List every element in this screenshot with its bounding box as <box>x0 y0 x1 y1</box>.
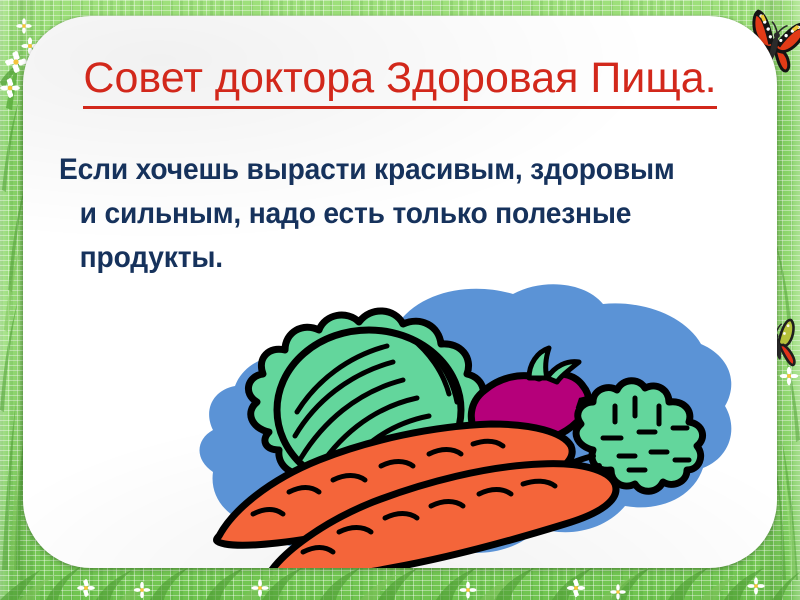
body-paragraph: Если хочешь вырасти красивым, здоровым и… <box>59 148 708 280</box>
body-line-1: Если хочешь вырасти красивым, здоровым <box>59 148 708 192</box>
grass-icon <box>774 140 800 580</box>
body-line-2: и сильным, надо есть только полезные <box>59 192 708 236</box>
body-line-3: продукты. <box>59 236 708 280</box>
content-card: Совет доктора Здоровая Пища. Если хочешь… <box>23 16 777 568</box>
page-title-text: Совет доктора Здоровая Пища. <box>83 54 716 109</box>
grass-icon <box>0 566 800 600</box>
page-title: Совет доктора Здоровая Пища. <box>23 54 777 109</box>
vegetables-illustration <box>173 260 753 568</box>
slide-background: Совет доктора Здоровая Пища. Если хочешь… <box>0 0 800 600</box>
